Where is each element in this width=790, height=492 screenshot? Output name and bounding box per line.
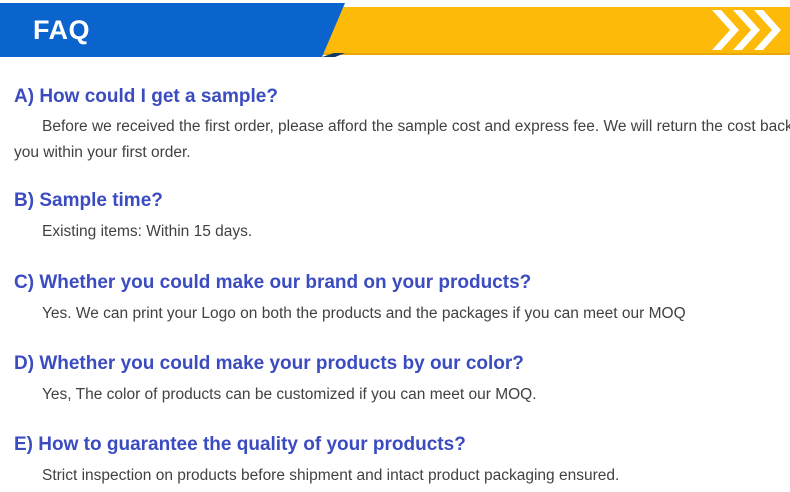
faq-question-d: D) Whether you could make your products … [14,352,790,376]
faq-item-b: B) Sample time? Existing items: Within 1… [0,189,790,245]
faq-answer-d: Yes, The color of products can be custom… [14,382,790,408]
faq-answer-e: Strict inspection on products before shi… [14,463,790,489]
faq-content: A) How could I get a sample? Before we r… [0,85,790,489]
faq-answer-a-text: Before we received the first order, plea… [14,118,790,161]
faq-answer-e-text: Strict inspection on products before shi… [42,467,619,484]
banner-shape-graphic [0,0,790,64]
faq-answer-d-text: Yes, The color of products can be custom… [42,386,537,403]
faq-item-c: C) Whether you could make our brand on y… [0,271,790,327]
faq-question-e: E) How to guarantee the quality of your … [14,433,790,457]
faq-question-a: A) How could I get a sample? [14,85,790,109]
banner-title: FAQ [33,14,90,46]
faq-answer-b: Existing items: Within 15 days. [14,219,790,245]
faq-item-d: D) Whether you could make your products … [0,352,790,408]
faq-item-e: E) How to guarantee the quality of your … [0,433,790,489]
faq-answer-b-text: Existing items: Within 15 days. [42,223,252,240]
faq-answer-c: Yes. We can print your Logo on both the … [14,301,790,327]
banner-yellow-shadow [316,53,790,55]
faq-answer-a: Before we received the first order, plea… [14,114,790,166]
faq-question-b: B) Sample time? [14,189,790,213]
faq-item-a: A) How could I get a sample? Before we r… [0,85,790,166]
faq-banner: FAQ [0,0,790,64]
faq-answer-c-text: Yes. We can print your Logo on both the … [42,305,686,322]
faq-question-c: C) Whether you could make our brand on y… [14,271,790,295]
